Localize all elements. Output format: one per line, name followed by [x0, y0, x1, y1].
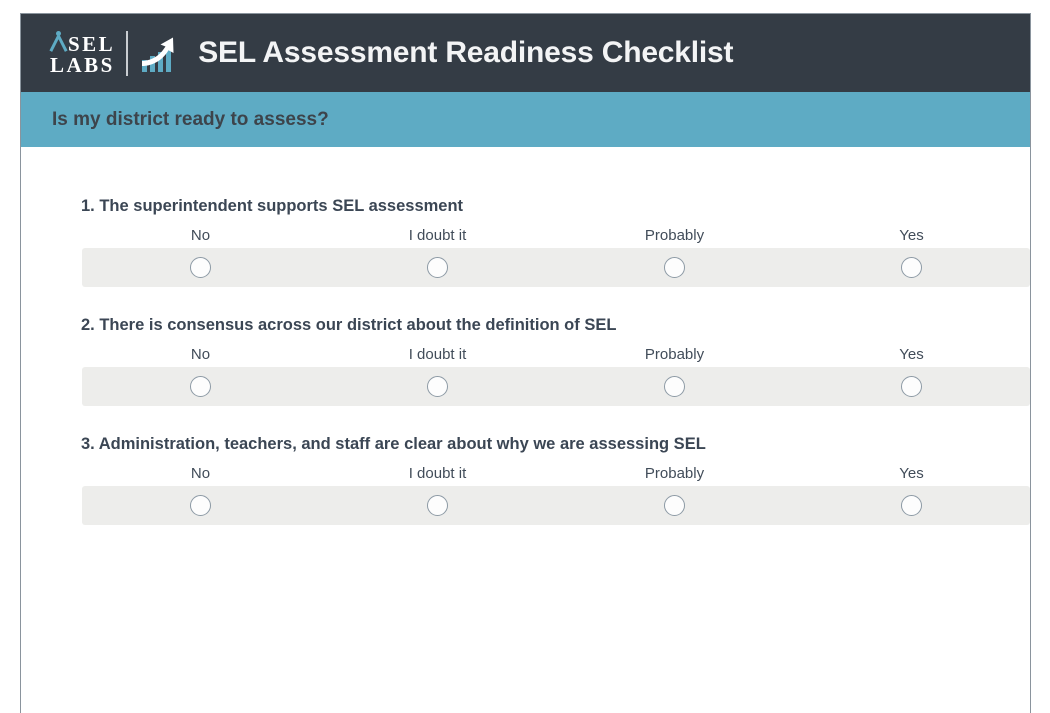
- option-label: I doubt it: [409, 346, 467, 363]
- radio-button[interactable]: [901, 257, 922, 278]
- option-radio-cell[interactable]: [556, 486, 793, 525]
- option-radio-cell[interactable]: [793, 486, 1030, 525]
- radio-button[interactable]: [427, 257, 448, 278]
- option-radio-cell[interactable]: [556, 367, 793, 406]
- radio-button[interactable]: [427, 495, 448, 516]
- question-text: 2. There is consensus across our distric…: [21, 316, 1030, 335]
- question-text: 3. Administration, teachers, and staff a…: [21, 435, 1030, 454]
- radio-button[interactable]: [664, 257, 685, 278]
- page-title: SEL Assessment Readiness Checklist: [198, 36, 733, 70]
- brand-wordmark: SEL LABS: [50, 31, 126, 74]
- radio-button[interactable]: [190, 495, 211, 516]
- survey-card: SEL LABS SEL Assessment Readiness Checkl…: [20, 13, 1031, 713]
- person-x-icon: [50, 31, 67, 51]
- option-radio-cell[interactable]: [319, 248, 556, 287]
- option-label-cell: No: [82, 227, 319, 244]
- option-radio-row: [82, 248, 1030, 287]
- question-block: 2. There is consensus across our distric…: [21, 316, 1030, 406]
- brand-line-labs: LABS: [50, 55, 115, 75]
- question-text: 1. The superintendent supports SEL asses…: [21, 197, 1030, 216]
- option-grid: NoI doubt itProbablyYes: [21, 346, 1030, 406]
- question-block: 3. Administration, teachers, and staff a…: [21, 435, 1030, 525]
- radio-button[interactable]: [901, 495, 922, 516]
- question-block: 1. The superintendent supports SEL asses…: [21, 197, 1030, 287]
- option-radio-cell[interactable]: [793, 248, 1030, 287]
- option-label-cell: No: [82, 465, 319, 482]
- option-label-cell: No: [82, 346, 319, 363]
- radio-button[interactable]: [190, 257, 211, 278]
- option-radio-cell[interactable]: [319, 367, 556, 406]
- sel-labs-logo: SEL LABS: [50, 31, 198, 76]
- option-label: Probably: [645, 227, 704, 244]
- option-label-cell: I doubt it: [319, 227, 556, 244]
- section-title: Is my district ready to assess?: [52, 109, 329, 131]
- option-label: No: [191, 465, 210, 482]
- question-list: 1. The superintendent supports SEL asses…: [21, 147, 1030, 525]
- option-label-cell: Yes: [793, 346, 1030, 363]
- option-label: No: [191, 227, 210, 244]
- option-label-cell: Probably: [556, 465, 793, 482]
- radio-button[interactable]: [664, 495, 685, 516]
- option-label: Probably: [645, 465, 704, 482]
- radio-button[interactable]: [427, 376, 448, 397]
- radio-button[interactable]: [664, 376, 685, 397]
- option-radio-cell[interactable]: [793, 367, 1030, 406]
- radio-button[interactable]: [190, 376, 211, 397]
- option-label-cell: I doubt it: [319, 465, 556, 482]
- option-label-cell: Yes: [793, 465, 1030, 482]
- option-label: No: [191, 346, 210, 363]
- option-label: I doubt it: [409, 227, 467, 244]
- option-label: Probably: [645, 346, 704, 363]
- option-label: Yes: [899, 465, 923, 482]
- option-radio-row: [82, 486, 1030, 525]
- option-label: Yes: [899, 346, 923, 363]
- option-radio-cell[interactable]: [82, 486, 319, 525]
- option-label-cell: Probably: [556, 227, 793, 244]
- option-radio-cell[interactable]: [319, 486, 556, 525]
- option-label-row: NoI doubt itProbablyYes: [82, 227, 1030, 248]
- option-radio-cell[interactable]: [82, 248, 319, 287]
- option-label-row: NoI doubt itProbablyYes: [82, 465, 1030, 486]
- option-grid: NoI doubt itProbablyYes: [21, 465, 1030, 525]
- growth-arrow-bars-icon: [140, 31, 180, 75]
- section-band: Is my district ready to assess?: [21, 92, 1030, 147]
- option-radio-cell[interactable]: [556, 248, 793, 287]
- brand-line-sel: SEL: [68, 34, 115, 54]
- option-label-cell: Yes: [793, 227, 1030, 244]
- option-label-row: NoI doubt itProbablyYes: [82, 346, 1030, 367]
- option-label: I doubt it: [409, 465, 467, 482]
- option-grid: NoI doubt itProbablyYes: [21, 227, 1030, 287]
- option-radio-cell[interactable]: [82, 367, 319, 406]
- option-label: Yes: [899, 227, 923, 244]
- logo-divider: [126, 31, 128, 76]
- option-label-cell: I doubt it: [319, 346, 556, 363]
- option-radio-row: [82, 367, 1030, 406]
- form-header: SEL LABS SEL Assessment Readiness Checkl…: [21, 14, 1030, 92]
- radio-button[interactable]: [901, 376, 922, 397]
- option-label-cell: Probably: [556, 346, 793, 363]
